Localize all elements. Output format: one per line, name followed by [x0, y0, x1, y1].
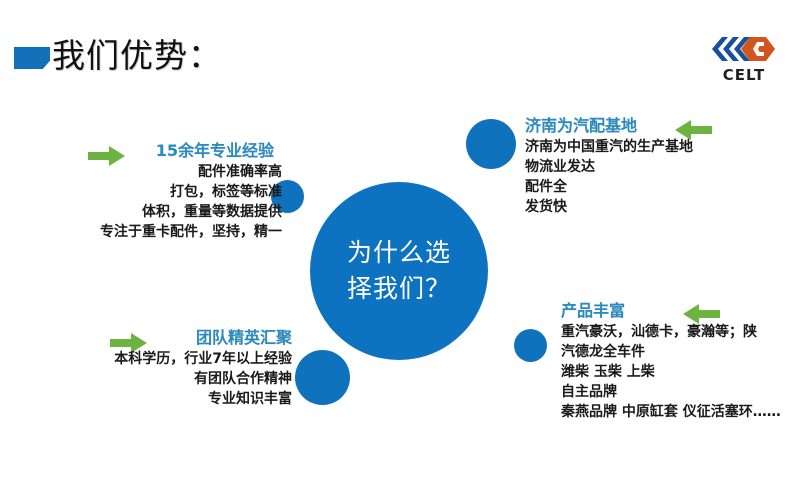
feature-line: 专注于重卡配件，坚持，精一: [10, 222, 282, 242]
center-circle: [310, 182, 488, 360]
feature-line: 济南为中国重汽的生产基地: [525, 137, 795, 157]
feature-line: 发货快: [525, 197, 795, 217]
feature-line: 专业知识丰富: [10, 389, 292, 409]
page-title: 我们优势：: [52, 36, 222, 76]
feature-line: 重汽豪沃，汕德卡，豪瀚等；陕: [561, 322, 800, 342]
satellite-dot-top-right: [466, 119, 516, 169]
feature-line: 潍柴 玉柴 上柴: [561, 362, 800, 382]
feature-block-products: 产品丰富 重汽豪沃，汕德卡，豪瀚等；陕 汽德龙全车件 潍柴 玉柴 上柴 自主品牌…: [561, 300, 800, 422]
feature-line: 自主品牌: [561, 382, 800, 402]
feature-line: 体积，重量等数据提供: [10, 202, 282, 222]
blue-tag-icon: [14, 47, 50, 69]
feature-line: 配件全: [525, 177, 795, 197]
feature-heading-base: 济南为汽配基地: [525, 115, 795, 137]
logo-brand-text: CELT: [702, 66, 786, 84]
feature-heading-products: 产品丰富: [561, 300, 800, 322]
feature-line: 本科学历，行业7年以上经验: [10, 349, 292, 369]
satellite-dot-bottom-left: [295, 350, 350, 405]
feature-heading-experience: 15余年专业经验: [10, 140, 282, 162]
feature-line: 汽德龙全车件: [561, 342, 800, 362]
slide-canvas: 我们优势： CELT 为什么选 择我们？: [0, 0, 800, 480]
satellite-dot-bottom-right: [514, 329, 547, 362]
feature-line: 秦燕品牌 中原缸套 仪征活塞环……: [561, 402, 800, 422]
celt-chevron-logo-icon: [702, 32, 786, 66]
feature-line: 打包，标签等标准: [10, 182, 282, 202]
feature-block-base: 济南为汽配基地 济南为中国重汽的生产基地 物流业发达 配件全 发货快: [525, 115, 795, 217]
feature-heading-team: 团队精英汇聚: [10, 327, 292, 349]
feature-line: 有团队合作精神: [10, 369, 292, 389]
celt-logo: CELT: [702, 32, 786, 84]
feature-line: 物流业发达: [525, 157, 795, 177]
feature-line: 配件准确率高: [10, 162, 282, 182]
feature-block-team: 团队精英汇聚 本科学历，行业7年以上经验 有团队合作精神 专业知识丰富: [10, 327, 292, 409]
feature-block-experience: 15余年专业经验 配件准确率高 打包，标签等标准 体积，重量等数据提供 专注于重…: [10, 140, 282, 242]
